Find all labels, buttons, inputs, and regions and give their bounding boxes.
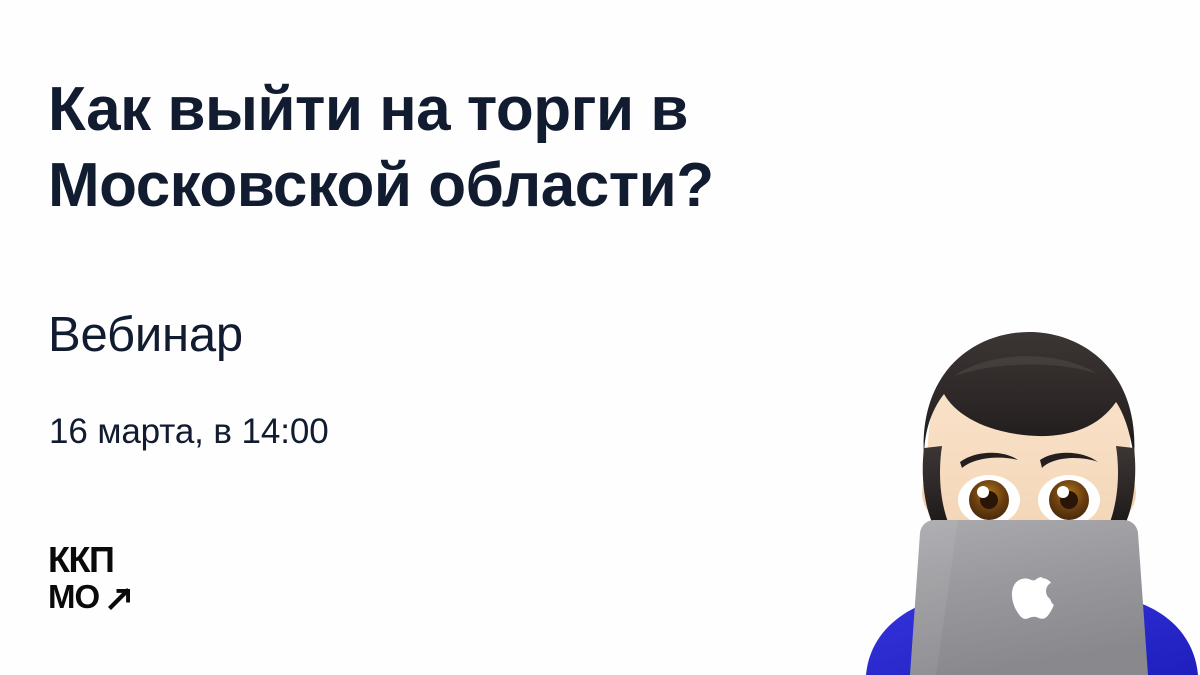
brand-logo: ККП МО xyxy=(48,543,134,614)
page-title: Как выйти на торги в Московской области? xyxy=(48,72,838,224)
logo-line-bottom: МО xyxy=(48,580,99,614)
man-technologist-emoji xyxy=(858,330,1200,675)
webinar-banner: Как выйти на торги в Московской области?… xyxy=(0,0,1200,675)
event-datetime: 16 марта, в 14:00 xyxy=(49,410,329,454)
event-type-label: Вебинар xyxy=(48,306,243,364)
logo-line-bottom-row: МО xyxy=(48,580,134,614)
text-block: Как выйти на торги в Московской области?… xyxy=(48,0,848,675)
logo-line-top: ККП xyxy=(48,543,113,577)
arrow-up-right-icon xyxy=(106,584,134,612)
